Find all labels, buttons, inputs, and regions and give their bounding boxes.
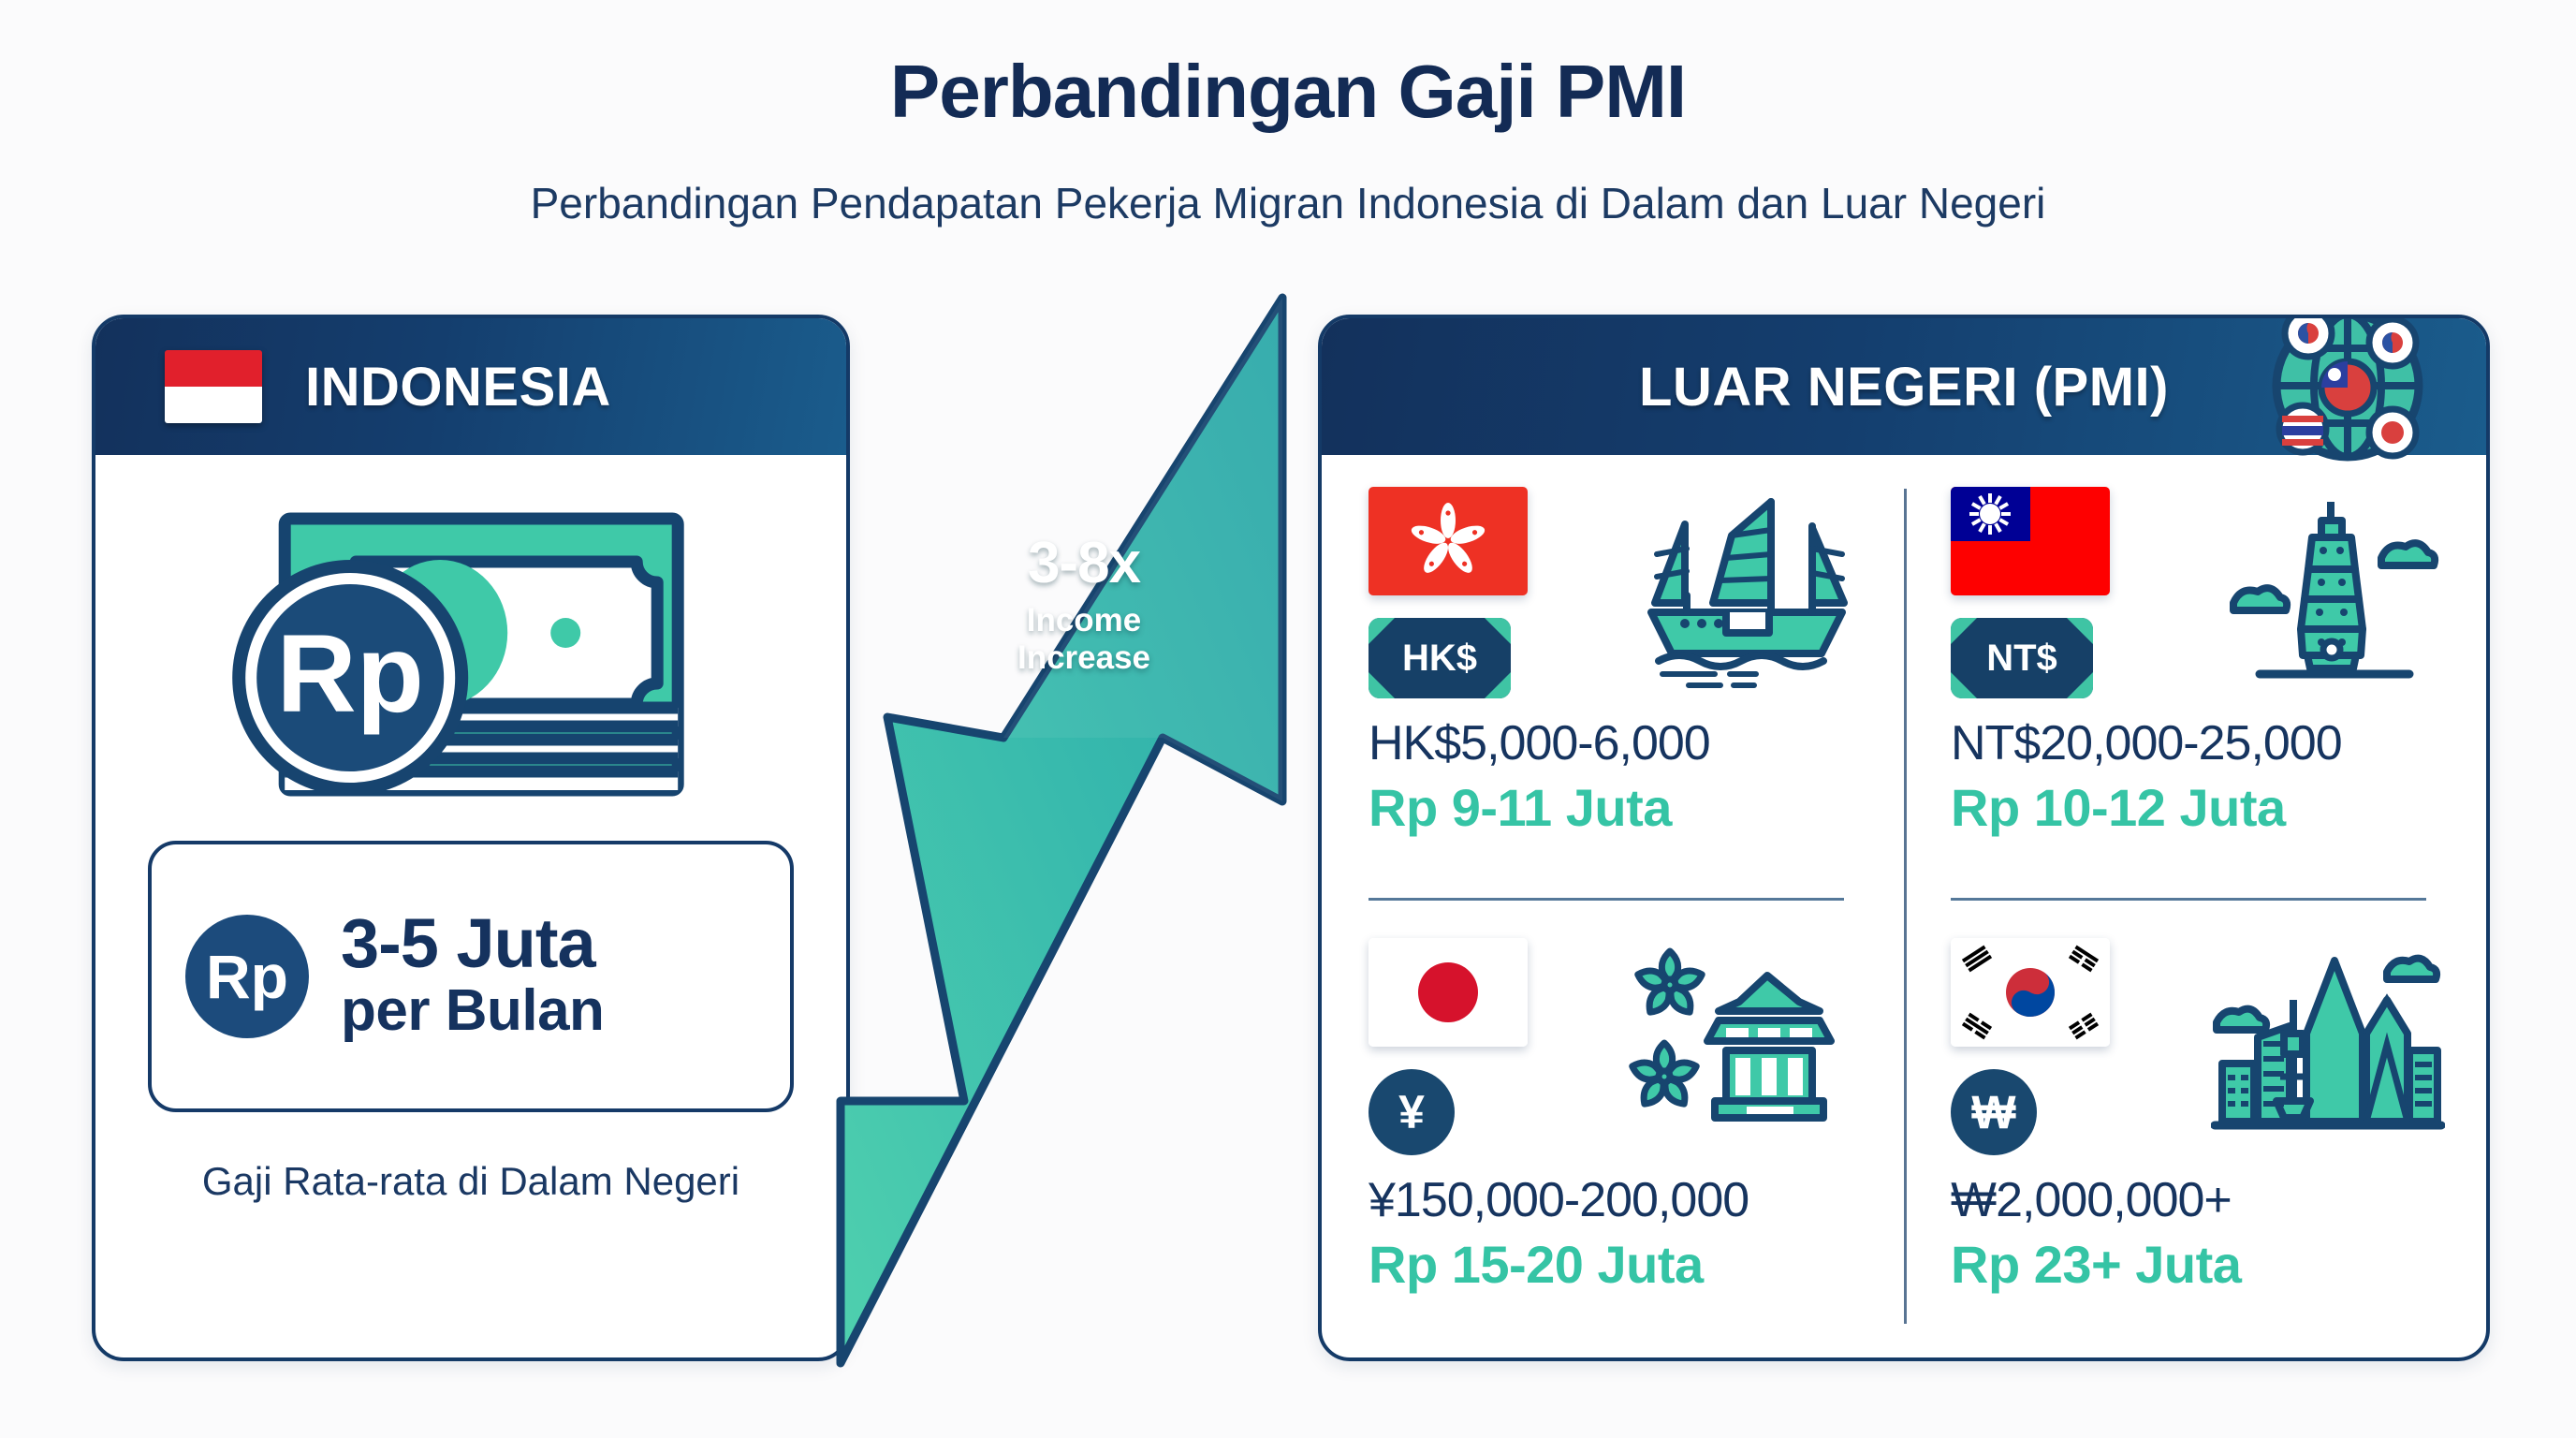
south-korea-flag-icon xyxy=(1951,938,2110,1047)
taiwan-amount-idr: Rp 10-12 Juta xyxy=(1951,777,2445,838)
domestic-amount-period: per Bulan xyxy=(341,978,604,1043)
south-korea-amount-idr: Rp 23+ Juta xyxy=(1951,1234,2445,1295)
domestic-salary-card: INDONESIA Rp Rp xyxy=(92,315,850,1361)
hong-kong-currency-badge: HK$ xyxy=(1368,618,1511,698)
hong-kong-amount-local: HK$5,000-6,000 xyxy=(1368,715,1863,771)
taipei-101-tower-icon xyxy=(2211,492,2445,694)
svg-text:Rp: Rp xyxy=(277,612,424,736)
taiwan-currency-label: NT$ xyxy=(1986,638,2057,680)
page-subtitle: Perbandingan Pendapatan Pekerja Migran I… xyxy=(0,178,2576,228)
country-cell-japan: ¥ xyxy=(1322,906,1904,1357)
hong-kong-currency-label: HK$ xyxy=(1402,638,1477,680)
taiwan-currency-badge: NT$ xyxy=(1951,618,2093,698)
overseas-card-header: LUAR NEGERI (PMI) xyxy=(1322,318,2486,455)
japan-currency-label: ¥ xyxy=(1398,1085,1425,1139)
hong-kong-junk-boat-icon xyxy=(1629,492,1863,694)
japan-amount-idr: Rp 15-20 Juta xyxy=(1368,1234,1863,1295)
hong-kong-amount-idr: Rp 9-11 Juta xyxy=(1368,777,1863,838)
country-cell-south-korea: ₩ xyxy=(1904,906,2486,1357)
south-korea-amount-local: ₩2,000,000+ xyxy=(1951,1172,2445,1228)
domestic-card-title: INDONESIA xyxy=(305,356,611,418)
income-increase-arrow: 3-8x Income Increase xyxy=(805,277,1329,1382)
arrow-multiplier-label: 3-8x xyxy=(972,535,1196,593)
country-cell-hong-kong: HK$ xyxy=(1322,455,1904,906)
domestic-salary-amount-box: Rp 3-5 Juta per Bulan xyxy=(148,841,794,1112)
japan-amount-local: ¥150,000-200,000 xyxy=(1368,1172,1863,1228)
domestic-card-header: INDONESIA xyxy=(95,318,846,455)
arrow-caption-line2: Increase xyxy=(972,639,1196,677)
overseas-country-grid: HK$ xyxy=(1322,455,2486,1357)
domestic-card-body: Rp Rp 3-5 Juta per Bulan Gaji Rata-rata … xyxy=(95,455,846,1357)
south-korea-currency-badge: ₩ xyxy=(1951,1069,2037,1155)
overseas-salary-card: LUAR NEGERI (PMI) xyxy=(1318,315,2490,1361)
taiwan-amount-local: NT$20,000-25,000 xyxy=(1951,715,2445,771)
page-title: Perbandingan Gaji PMI xyxy=(0,49,2576,135)
japan-flag-icon xyxy=(1368,938,1528,1047)
domestic-amount-primary: 3-5 Juta xyxy=(341,909,604,978)
hong-kong-flag-icon xyxy=(1368,487,1528,595)
seoul-skyline-icon xyxy=(2211,944,2445,1145)
domestic-card-caption: Gaji Rata-rata di Dalam Negeri xyxy=(95,1159,846,1204)
overseas-card-title: LUAR NEGERI (PMI) xyxy=(1639,356,2169,418)
taiwan-flag-icon xyxy=(1951,487,2110,595)
south-korea-currency-label: ₩ xyxy=(1971,1085,2015,1139)
arrow-caption-line1: Income xyxy=(972,602,1196,639)
japan-currency-badge: ¥ xyxy=(1368,1069,1455,1155)
indonesia-flag-icon xyxy=(165,350,262,423)
rupiah-badge-icon: Rp xyxy=(185,915,309,1038)
country-cell-taiwan: NT$ xyxy=(1904,455,2486,906)
up-right-arrow-icon xyxy=(805,277,1329,1382)
rupiah-money-stack-icon: Rp xyxy=(208,494,713,813)
japan-temple-sakura-icon xyxy=(1629,944,1863,1145)
